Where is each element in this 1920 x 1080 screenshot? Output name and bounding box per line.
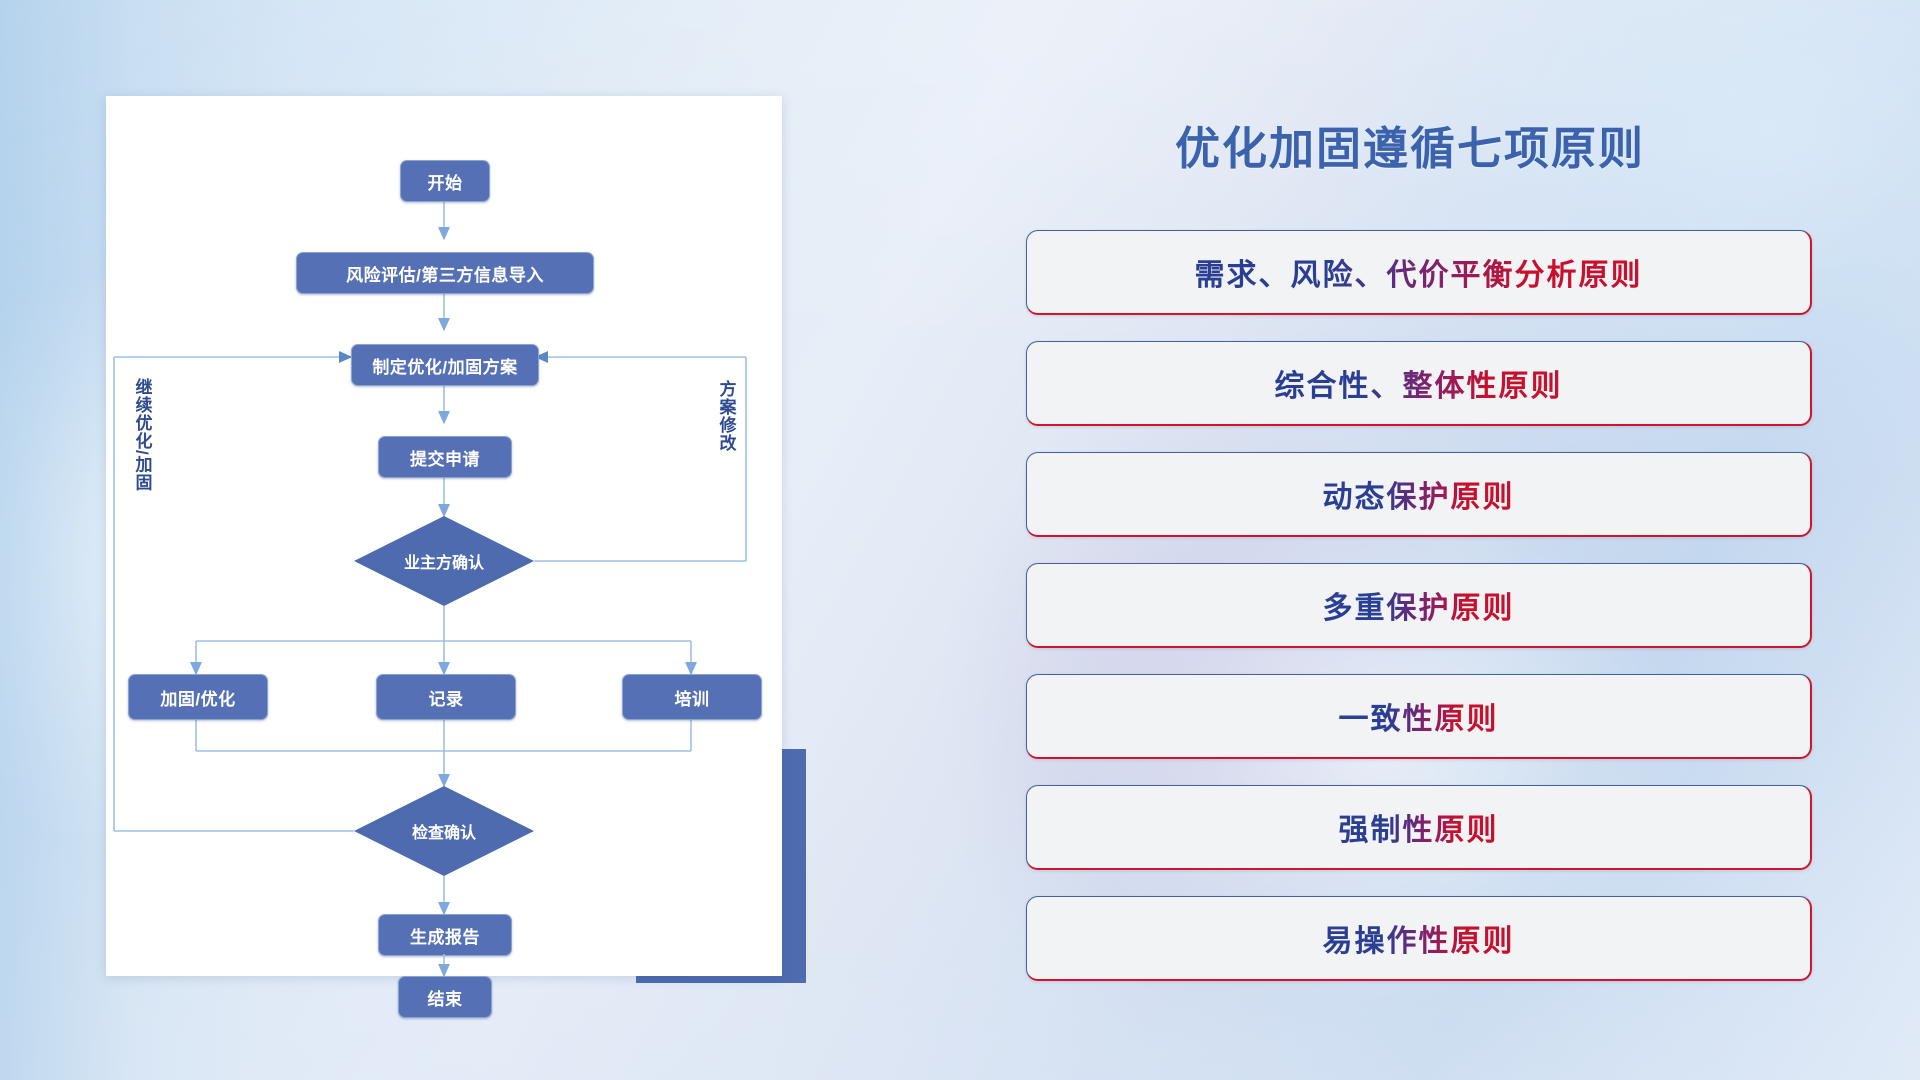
flow-node-record[interactable]: 记录 — [376, 674, 516, 720]
flow-node-end[interactable]: 结束 — [398, 976, 492, 1018]
principle-item-4-label: 多重保护原则 — [1323, 583, 1515, 627]
principle-item-1-label: 需求、风险、代价平衡分析原则 — [1195, 250, 1643, 294]
principles-list: 需求、风险、代价平衡分析原则 综合性、整体性原则 动态保护原则 多重保护原则 一… — [1026, 230, 1812, 1007]
flow-node-training[interactable]: 培训 — [622, 674, 762, 720]
principle-item-6[interactable]: 强制性原则 — [1026, 785, 1812, 870]
flow-node-check-confirm[interactable]: 检查确认 — [354, 786, 534, 876]
flow-node-plan[interactable]: 制定优化/加固方案 — [351, 344, 539, 386]
flowchart-card: 开始 风险评估/第三方信息导入 制定优化/加固方案 提交申请 业主方确认 加固/… — [106, 96, 782, 976]
principles-title: 优化加固遵循七项原则 — [960, 112, 1860, 177]
principles-panel: 优化加固遵循七项原则 需求、风险、代价平衡分析原则 综合性、整体性原则 动态保护… — [880, 0, 1920, 1080]
flow-node-owner-confirm[interactable]: 业主方确认 — [354, 516, 534, 606]
flow-node-start[interactable]: 开始 — [400, 160, 490, 202]
principle-item-2-label: 综合性、整体性原则 — [1275, 361, 1563, 405]
flow-node-submit-application[interactable]: 提交申请 — [378, 436, 512, 478]
principle-item-3[interactable]: 动态保护原则 — [1026, 452, 1812, 537]
principle-item-5-label: 一致性原则 — [1339, 694, 1499, 738]
principle-item-2[interactable]: 综合性、整体性原则 — [1026, 341, 1812, 426]
flowchart-panel: 开始 风险评估/第三方信息导入 制定优化/加固方案 提交申请 业主方确认 加固/… — [0, 0, 880, 1080]
principle-item-5[interactable]: 一致性原则 — [1026, 674, 1812, 759]
flow-node-check-confirm-label: 检查确认 — [412, 819, 476, 843]
flow-edge-label-left-loop: 继续优化/加固 — [132, 378, 152, 492]
flow-node-reinforce[interactable]: 加固/优化 — [128, 674, 268, 720]
flow-edge-label-right-loop: 方案修改 — [716, 380, 736, 452]
principle-item-6-label: 强制性原则 — [1339, 805, 1499, 849]
flow-node-owner-confirm-label: 业主方确认 — [404, 549, 484, 573]
principle-item-3-label: 动态保护原则 — [1323, 472, 1515, 516]
principle-item-7[interactable]: 易操作性原则 — [1026, 896, 1812, 981]
principle-item-7-label: 易操作性原则 — [1323, 916, 1515, 960]
principle-item-4[interactable]: 多重保护原则 — [1026, 563, 1812, 648]
flow-node-report[interactable]: 生成报告 — [378, 914, 512, 956]
principle-item-1[interactable]: 需求、风险、代价平衡分析原则 — [1026, 230, 1812, 315]
flow-node-risk-assessment[interactable]: 风险评估/第三方信息导入 — [296, 252, 594, 294]
